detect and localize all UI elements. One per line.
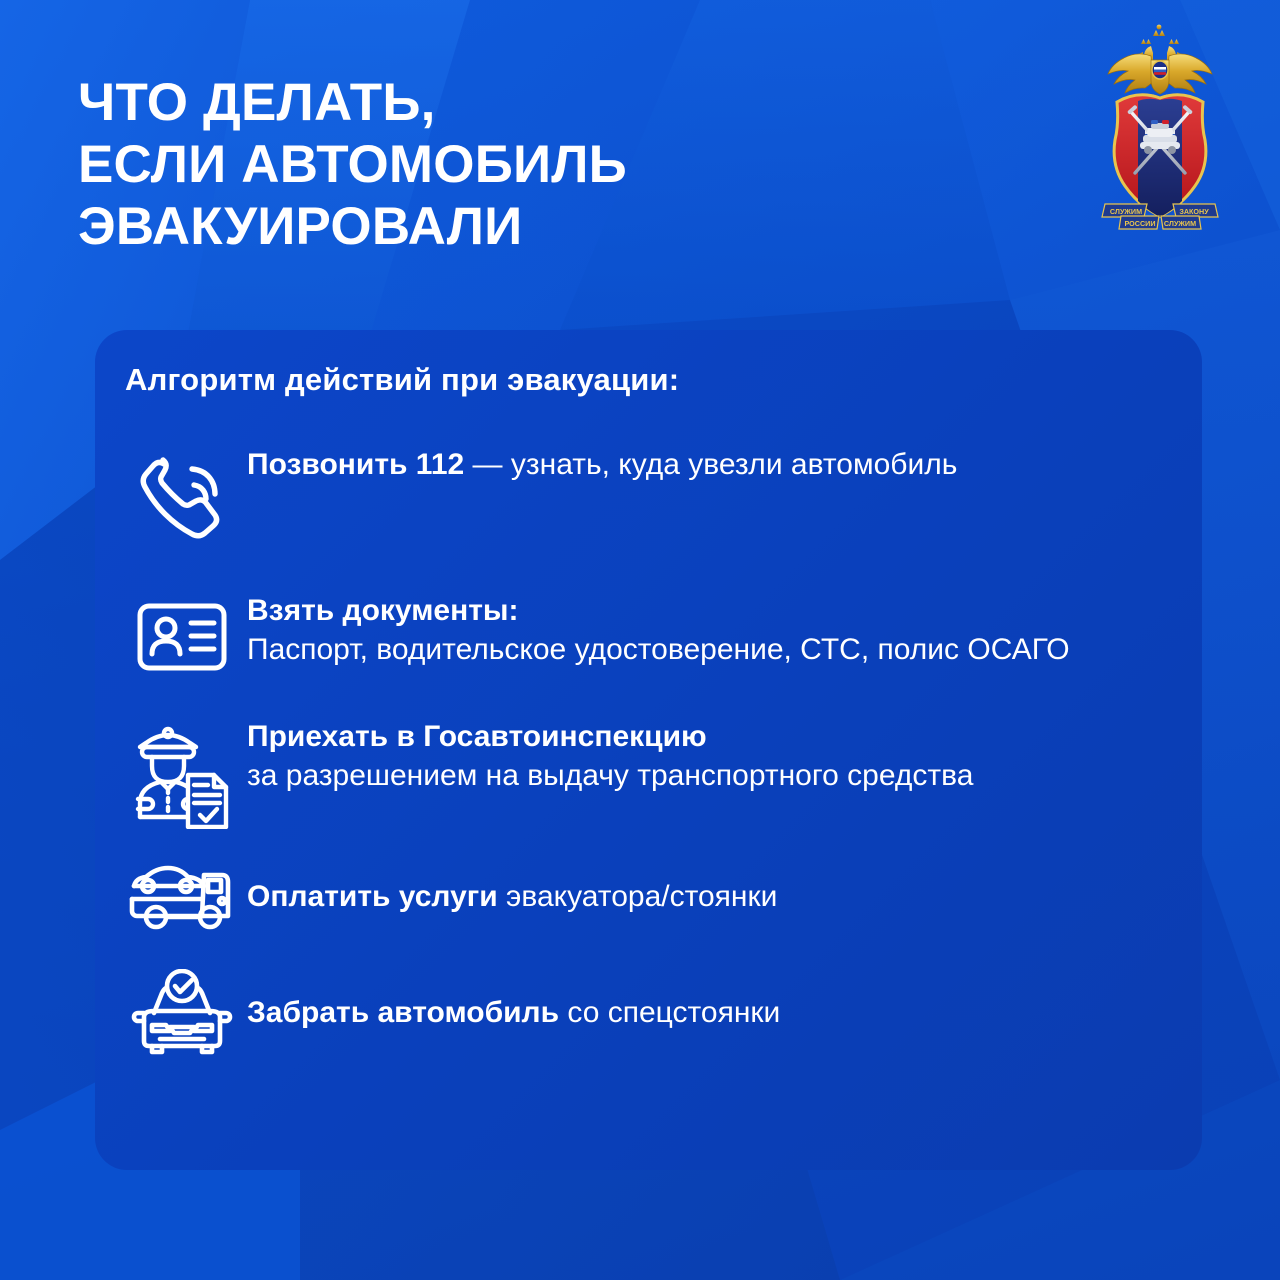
ribbon-text-zakonu: ЗАКОНУ [1179, 207, 1209, 216]
step-text: Оплатить услуги эвакуатора/стоянки [247, 853, 777, 916]
step-rest: со спецстоянки [559, 996, 780, 1029]
poster-root: СЛУЖИМ ЗАКОНУ РОССИИ СЛУЖИМ ЧТО ДЕЛАТЬ, … [0, 0, 1280, 1280]
list-item: Позвонить 112 — узнать, куда увезли авто… [117, 439, 1186, 551]
step-text: Приехать в Госавтоинспекцию за разрешени… [247, 711, 973, 796]
ribbon-text-rossii: РОССИИ [1124, 219, 1155, 228]
emblem-svg: СЛУЖИМ ЗАКОНУ РОССИИ СЛУЖИМ [1085, 18, 1235, 233]
card-heading: Алгоритм действий при эвакуации: [125, 362, 679, 398]
step-bold: Взять документы: [247, 594, 519, 627]
title-line-2: ЕСЛИ АВТОМОБИЛЬ [78, 134, 898, 196]
step-rest: за разрешением на выдачу транспортного с… [247, 759, 973, 792]
poster-title: ЧТО ДЕЛАТЬ, ЕСЛИ АВТОМОБИЛЬ ЭВАКУИРОВАЛИ [78, 72, 898, 258]
list-item: Оплатить услуги эвакуатора/стоянки [117, 853, 1186, 945]
step-bold: Приехать в Госавтоинспекцию [247, 720, 707, 753]
gibdd-emblem: СЛУЖИМ ЗАКОНУ РОССИИ СЛУЖИМ [1085, 18, 1235, 233]
tow-truck-icon [117, 853, 247, 945]
steps-list: Позвонить 112 — узнать, куда увезли авто… [117, 435, 1186, 1067]
step-bold: Забрать автомобиль [247, 996, 559, 1029]
title-line-1: ЧТО ДЕЛАТЬ, [78, 72, 898, 134]
phone-icon [117, 439, 247, 551]
list-item: Забрать автомобиль со спецстоянки [117, 969, 1186, 1061]
car-check-icon [117, 969, 247, 1061]
step-rest: — узнать, куда увезли автомобиль [464, 448, 957, 481]
list-item: Приехать в Госавтоинспекцию за разрешени… [117, 711, 1186, 835]
id-card-icon [117, 585, 247, 689]
ribbon-text-sluzhim-1: СЛУЖИМ [1110, 207, 1142, 216]
step-rest: Паспорт, водительское удостоверение, СТС… [247, 633, 1070, 666]
ribbon-text-sluzhim-2: СЛУЖИМ [1164, 219, 1196, 228]
shield-icon [1114, 95, 1206, 217]
list-item: Взять документы: Паспорт, водительское у… [117, 585, 1186, 689]
double-headed-eagle-icon [1108, 25, 1212, 103]
step-rest: эвакуатора/стоянки [498, 880, 778, 913]
step-bold: Оплатить услуги [247, 880, 498, 913]
step-bold: Позвонить 112 [247, 448, 464, 481]
police-officer-document-icon [117, 711, 247, 835]
title-line-3: ЭВАКУИРОВАЛИ [78, 196, 898, 258]
algorithm-card: Алгоритм действий при эвакуации: Позвони… [95, 330, 1202, 1170]
step-text: Забрать автомобиль со спецстоянки [247, 969, 780, 1032]
step-text: Взять документы: Паспорт, водительское у… [247, 585, 1070, 670]
step-text: Позвонить 112 — узнать, куда увезли авто… [247, 439, 957, 484]
